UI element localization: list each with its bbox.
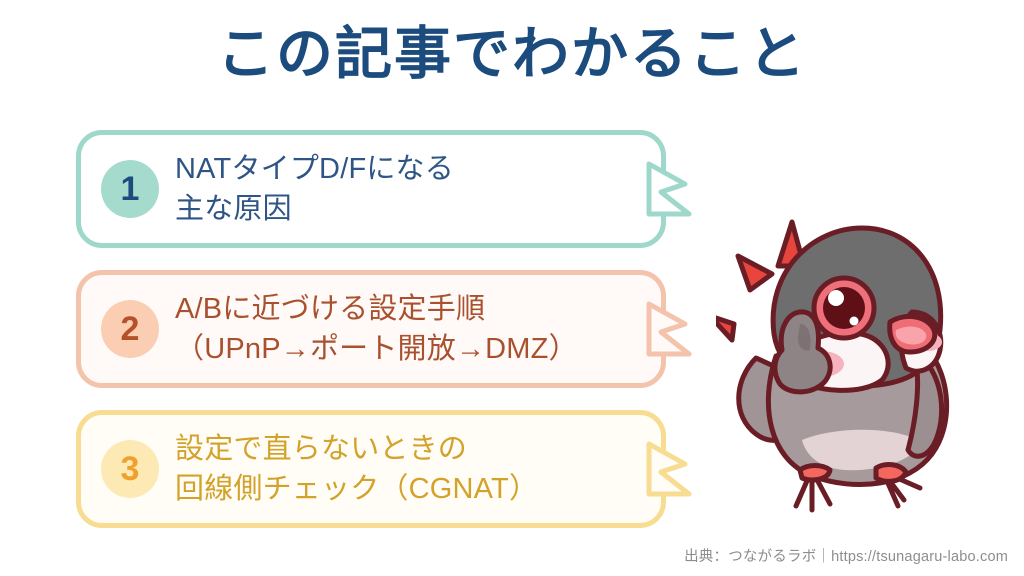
java-sparrow-mascot-icon — [716, 208, 1002, 514]
list-item: 3 設定で直らないときの 回線側チェック（CGNAT） — [76, 410, 666, 528]
takeaway-line-1a: NATタイプD/Fになる — [175, 153, 454, 185]
takeaway-bubble-2[interactable]: 2 A/Bに近づける設定手順 （UPnP→ポート開放→DMZ） — [76, 270, 666, 388]
takeaway-line-1b: 主な原因 — [175, 189, 454, 229]
takeaway-list: 1 NATタイプD/Fになる 主な原因 2 A/Bに近づける設定手順 （UPnP… — [76, 130, 666, 550]
takeaway-bubble-3[interactable]: 3 設定で直らないときの 回線側チェック（CGNAT） — [76, 410, 666, 528]
takeaway-line-2a: A/Bに近づける設定手順 — [175, 293, 485, 325]
takeaway-text-3: 設定で直らないときの 回線側チェック（CGNAT） — [175, 429, 538, 509]
step-badge-3: 3 — [101, 440, 159, 498]
page-title: この記事でわかること — [0, 22, 1024, 88]
takeaway-line-2b: （UPnP→ポート開放→DMZ） — [175, 329, 578, 369]
takeaway-bubble-1[interactable]: 1 NATタイプD/Fになる 主な原因 — [76, 130, 666, 248]
list-item: 2 A/Bに近づける設定手順 （UPnP→ポート開放→DMZ） — [76, 270, 666, 388]
takeaway-text-2: A/Bに近づける設定手順 （UPnP→ポート開放→DMZ） — [175, 289, 578, 369]
source-credit: 出典：つながるラボ｜https://tsunagaru-labo.com — [684, 545, 1008, 566]
takeaway-line-3b: 回線側チェック（CGNAT） — [175, 469, 538, 509]
takeaway-line-3a: 設定で直らないときの — [175, 433, 467, 465]
step-badge-2: 2 — [101, 300, 159, 358]
speech-tail-icon — [655, 162, 695, 216]
takeaway-text-1: NATタイプD/Fになる 主な原因 — [175, 149, 454, 229]
speech-tail-icon — [655, 302, 695, 356]
list-item: 1 NATタイプD/Fになる 主な原因 — [76, 130, 666, 248]
speech-tail-icon — [655, 442, 695, 496]
step-badge-1: 1 — [101, 160, 159, 218]
